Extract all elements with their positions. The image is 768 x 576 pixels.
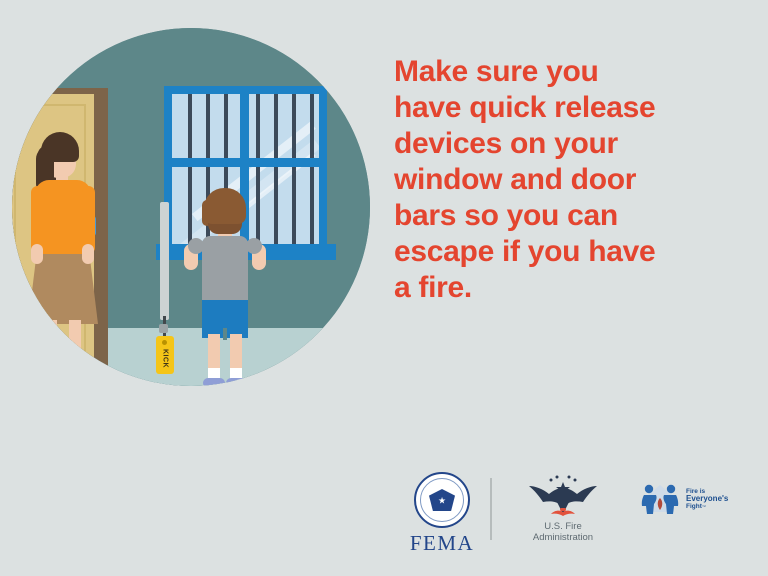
boy-shorts-gap — [223, 328, 227, 340]
headline-line: a fire. — [394, 270, 730, 306]
usfa-line-1: U.S. Fire — [508, 521, 618, 532]
feef-line-2: Everyone's — [686, 495, 728, 503]
usfa-logo: U.S. Fire Administration — [508, 474, 618, 543]
quick-release-tag-label: KICK — [156, 346, 174, 372]
glass-highlight-streak — [180, 139, 319, 244]
woman-hand-left — [31, 244, 43, 264]
fire-is-everyones-fight-wordmark: Fire is Everyone's Fight™ — [686, 488, 728, 511]
security-bar — [274, 94, 278, 244]
quick-release-clip — [159, 324, 168, 333]
boy-arm-right — [246, 238, 262, 254]
headline-line: escape if you have — [394, 234, 730, 270]
headline-line: devices on your — [394, 126, 730, 162]
logo-bar: ★ FEMA — [380, 468, 750, 548]
quick-release-tag-hole — [162, 340, 167, 345]
usfa-line-2: Administration — [508, 532, 618, 543]
security-bar — [188, 94, 192, 244]
usfa-wordmark: U.S. Fire Administration — [508, 521, 618, 543]
fire-is-everyones-fight-logo: Fire is Everyone's Fight™ — [638, 482, 750, 516]
two-figures-home-icon — [638, 482, 682, 516]
dhs-seal-eagle-icon: ★ — [438, 496, 446, 507]
woman-hand-right — [82, 244, 94, 264]
boy-shoe-right — [226, 378, 248, 386]
illustration-circle: KICK — [12, 28, 370, 386]
headline-line: bars so you can — [394, 198, 730, 234]
fema-logo: ★ FEMA — [388, 472, 496, 556]
poster-canvas: KICK — [0, 0, 768, 576]
boy-arm-left — [188, 238, 204, 254]
headline-line: Make sure you — [394, 54, 730, 90]
feef-fight-word: Fight — [686, 503, 702, 510]
logo-divider — [490, 478, 492, 540]
quick-release-bar — [160, 202, 169, 320]
woman-shoe-right — [64, 358, 94, 371]
security-bar — [256, 94, 260, 244]
security-bar — [292, 94, 296, 244]
headline-line: have quick release — [394, 90, 730, 126]
boy-shirt — [202, 236, 248, 306]
dhs-seal-icon: ★ — [414, 472, 470, 528]
eagle-with-flame-icon — [527, 474, 599, 520]
boy-hair — [204, 188, 246, 224]
headline: Make sure you have quick release devices… — [394, 54, 730, 306]
boy-shoe-left — [203, 378, 225, 386]
feef-trademark: ™ — [702, 504, 706, 509]
illustration: KICK — [12, 28, 370, 386]
security-bar — [310, 94, 314, 244]
headline-line: window and door — [394, 162, 730, 198]
fema-wordmark: FEMA — [388, 531, 496, 556]
woman-shoe-left — [38, 358, 66, 371]
feef-line-3: Fight™ — [686, 503, 728, 511]
